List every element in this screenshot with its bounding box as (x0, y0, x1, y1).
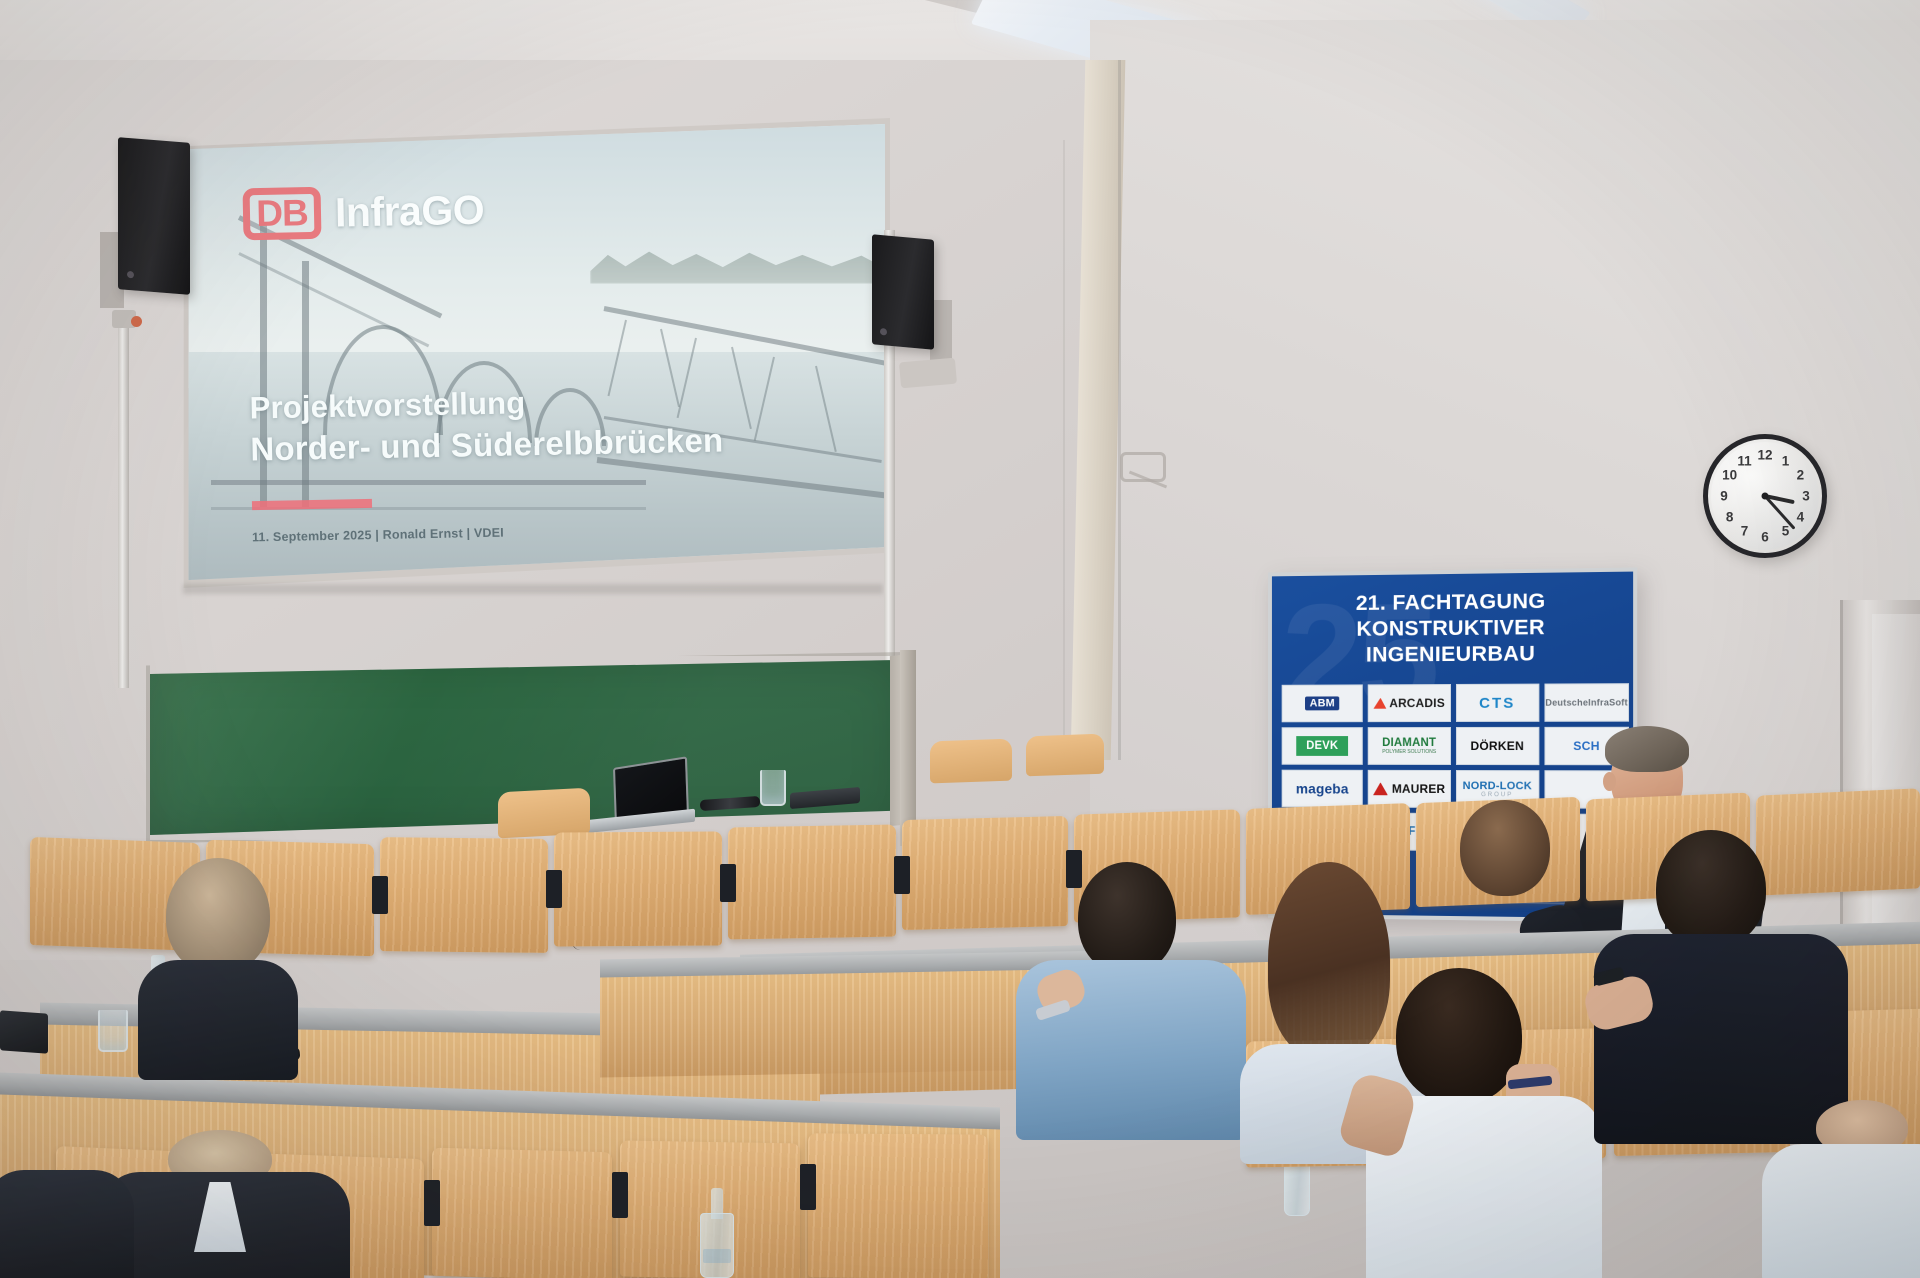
clock-numeral: 6 (1761, 530, 1769, 545)
slide-title: Projektvorstellung Norder- und Süderelbb… (249, 379, 723, 470)
seat-hinge (372, 876, 388, 914)
slide-title-line2: Norder- und Süderelbbrücken (250, 419, 724, 470)
chalkboard-rail (900, 650, 916, 846)
sponsor-logo-cts: CTS (1455, 684, 1539, 722)
drinking-glass-3[interactable] (760, 770, 786, 806)
seat-hinge (546, 870, 562, 908)
clock-center-pin (1762, 493, 1769, 500)
bottle-body (1284, 1161, 1310, 1216)
audience-head (1078, 862, 1176, 974)
clock-numeral: 10 (1722, 468, 1737, 483)
presentation-slide: DB InfraGO Projektvorstellung Norder- un… (183, 124, 885, 580)
bridge-pylon-2 (302, 261, 309, 507)
seat-back[interactable] (554, 831, 722, 946)
sponsor-logo-deutscheinfrasoft: DeutscheInfraSoft (1544, 683, 1629, 722)
bridge-deck (211, 480, 646, 485)
wall-seam-2 (1063, 140, 1065, 760)
clock-numeral: 5 (1782, 524, 1790, 539)
audience-member-8 (1440, 800, 1570, 920)
audience-body (1762, 1144, 1920, 1278)
banner-title-line1: 21. FACHTAGUNG (1272, 588, 1633, 618)
presenter-ear (1603, 772, 1616, 791)
chair-front-3[interactable] (1026, 734, 1104, 777)
audience-member-9 (0, 1170, 104, 1278)
audience-member-6 (1598, 830, 1848, 1130)
speaker-mount-plate (899, 358, 957, 389)
sponsor-logo-mageba: mageba (1282, 770, 1363, 808)
audience-head (1656, 830, 1766, 948)
sponsor-label: ABM (1305, 696, 1340, 710)
banner-title-line3: INGENIEURBAU (1272, 640, 1633, 668)
screen-shadow (183, 584, 883, 594)
sponsor-logo-arcadis: ARCADIS (1368, 684, 1451, 722)
seat-back[interactable] (728, 825, 896, 940)
sponsor-label: NORD-LOCK (1463, 780, 1532, 792)
db-logo-mark: DB (242, 186, 321, 239)
clock-numeral: 3 (1802, 489, 1810, 504)
drinking-glass-1[interactable] (98, 1010, 128, 1052)
chair-front-1[interactable] (498, 788, 590, 839)
db-infrago-logo: DB InfraGO (242, 183, 484, 240)
audience-head (1396, 968, 1522, 1104)
seat-back-front-row[interactable] (432, 1148, 612, 1278)
clock-numeral: 4 (1797, 509, 1805, 524)
bottle-body (700, 1213, 734, 1278)
water-bottle-2[interactable] (700, 1188, 734, 1278)
sponsor-label: DeutscheInfraSoft (1545, 697, 1627, 707)
sponsor-logo-diamant: DIAMANT POLYMER SOLUTIONS (1368, 727, 1451, 765)
sponsor-label: MAURER (1392, 782, 1445, 796)
bottle-label (703, 1249, 731, 1263)
clock-numeral: 2 (1797, 468, 1805, 483)
sponsor-label: DIAMANT (1382, 737, 1436, 749)
seat-hinge (800, 1164, 816, 1210)
sponsor-logo-abm: ABM (1282, 684, 1363, 722)
audience-head (166, 858, 270, 974)
screen-support-post-left (118, 318, 129, 688)
banner-title: 21. FACHTAGUNG KONSTRUKTIVER INGENIEURBA… (1272, 588, 1633, 669)
sponsor-label: ARCADIS (1389, 696, 1445, 710)
audience-member-3 (1030, 862, 1230, 1122)
seat-back[interactable] (380, 837, 548, 953)
chair-front-2[interactable] (930, 739, 1012, 784)
audience-member-7 (1780, 1100, 1920, 1278)
lecture-hall-scene: DB InfraGO Projektvorstellung Norder- un… (0, 0, 1920, 1278)
seat-hinge (720, 864, 736, 902)
clock-numeral: 7 (1741, 524, 1749, 539)
sponsor-sublabel: POLYMER SOLUTIONS (1382, 749, 1436, 755)
clock-numeral: 1 (1782, 453, 1790, 468)
sponsor-sublabel: GROUP (1481, 792, 1513, 798)
clock-numeral: 8 (1726, 509, 1734, 524)
audience-member-1 (148, 858, 278, 1058)
arcadis-mark-icon (1373, 698, 1386, 709)
clock-numeral: 9 (1720, 489, 1728, 504)
screen-surface: DB InfraGO Projektvorstellung Norder- un… (183, 124, 885, 580)
left-edge-equipment (0, 1010, 48, 1053)
wall-speaker-left (118, 137, 190, 295)
db-logo-wordmark: InfraGO (334, 186, 484, 236)
projection-screen: DB InfraGO Projektvorstellung Norder- un… (178, 118, 890, 588)
maurer-mark-icon (1373, 782, 1388, 795)
sponsor-label: mageba (1296, 781, 1349, 797)
sponsor-label: CTS (1479, 694, 1515, 711)
audience-member-2 (120, 1130, 320, 1278)
seat-hinge (612, 1172, 628, 1218)
wall-speaker-right (872, 234, 934, 349)
clock-numeral: 12 (1757, 447, 1772, 462)
clock-numeral: 11 (1737, 453, 1751, 468)
wall-clock: 12 1 2 3 4 5 6 7 8 9 10 11 (1703, 434, 1827, 558)
post-indicator (131, 316, 142, 327)
audience-body (0, 1170, 134, 1278)
slide-photo-sky (183, 124, 885, 388)
wall-seam (1118, 60, 1121, 760)
sponsor-label: DÖRKEN (1470, 739, 1523, 753)
audience-member-5 (1356, 968, 1586, 1278)
seat-hinge (894, 856, 910, 894)
audience-head (1460, 800, 1550, 896)
presenter-hair (1605, 726, 1689, 772)
audience-body (138, 960, 298, 1080)
sponsor-logo-devk: DEVK (1282, 727, 1363, 765)
seat-back-front-row[interactable] (808, 1133, 988, 1278)
sponsor-label: DEVK (1296, 736, 1348, 756)
banner-title-line2: KONSTRUKTIVER (1272, 614, 1633, 643)
seat-hinge (424, 1180, 440, 1226)
